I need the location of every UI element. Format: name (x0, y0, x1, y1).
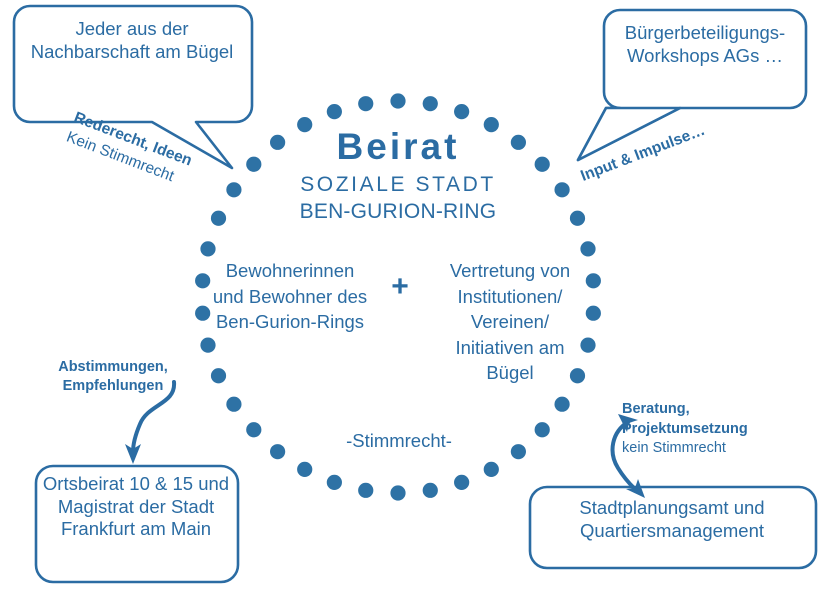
center-column-right: Vertretung von Institutionen/ Vereinen/ … (430, 258, 590, 386)
ring-dot (327, 475, 342, 490)
ring-dot (535, 422, 550, 437)
ring-dot (270, 444, 285, 459)
ring-dot (554, 397, 569, 412)
center-columns: Bewohnerinnen und Bewohner des Ben-Gurio… (210, 258, 590, 386)
connector-label-beratung-regular: kein Stimmrecht (622, 439, 792, 459)
ring-dot (200, 241, 215, 256)
center-footer-stimmrecht: -Stimmrecht- (299, 430, 499, 452)
ring-dot (195, 306, 210, 321)
connector-label-beratung-line1: Beratung, (622, 400, 792, 420)
page-title: Beirat (258, 128, 538, 167)
ring-dot (484, 462, 499, 477)
speech-bubble-top-right-text: Bürgerbeteiligungs- Workshops AGs … (602, 22, 808, 67)
center-subtitle-2: BEN-GURION-RING (258, 199, 538, 225)
ring-dot (195, 273, 210, 288)
connector-label-beratung: Beratung, Projektumsetzung kein Stimmrec… (622, 400, 792, 459)
box-bottom-right-text: Stadtplanungsamt und Quartiersmanagement (534, 497, 810, 542)
ring-dot (423, 96, 438, 111)
plus-icon: + (380, 270, 420, 304)
speech-bubble-top-left-text: Jeder aus der Nachbarschaft am Bügel (26, 18, 238, 63)
ring-dot (358, 483, 373, 498)
ring-dot (297, 462, 312, 477)
ring-dot (390, 485, 405, 500)
ring-dot (327, 104, 342, 119)
center-title-block: Beirat SOZIALE STADT BEN-GURION-RING (258, 128, 538, 225)
center-column-left: Bewohnerinnen und Bewohner des Ben-Gurio… (210, 258, 370, 335)
ring-dot (511, 444, 526, 459)
box-bottom-left-text: Ortsbeirat 10 & 15 und Magistrat der Sta… (40, 473, 232, 541)
ring-dot (580, 241, 595, 256)
ring-dot (423, 483, 438, 498)
connector-label-beratung-line2: Projektumsetzung (622, 420, 792, 440)
ring-dot (454, 104, 469, 119)
ring-dot (358, 96, 373, 111)
center-subtitle: SOZIALE STADT (258, 171, 538, 199)
ring-dot (211, 211, 226, 226)
connector-label-abstimmungen: Abstimmungen, Empfehlungen (38, 358, 188, 397)
ring-dot (246, 422, 261, 437)
ring-dot (554, 182, 569, 197)
ring-dot (454, 475, 469, 490)
diagram-canvas: Jeder aus der Nachbarschaft am Bügel Red… (0, 0, 820, 600)
ring-dot (390, 93, 405, 108)
ring-dot (570, 211, 585, 226)
ring-dot (226, 397, 241, 412)
